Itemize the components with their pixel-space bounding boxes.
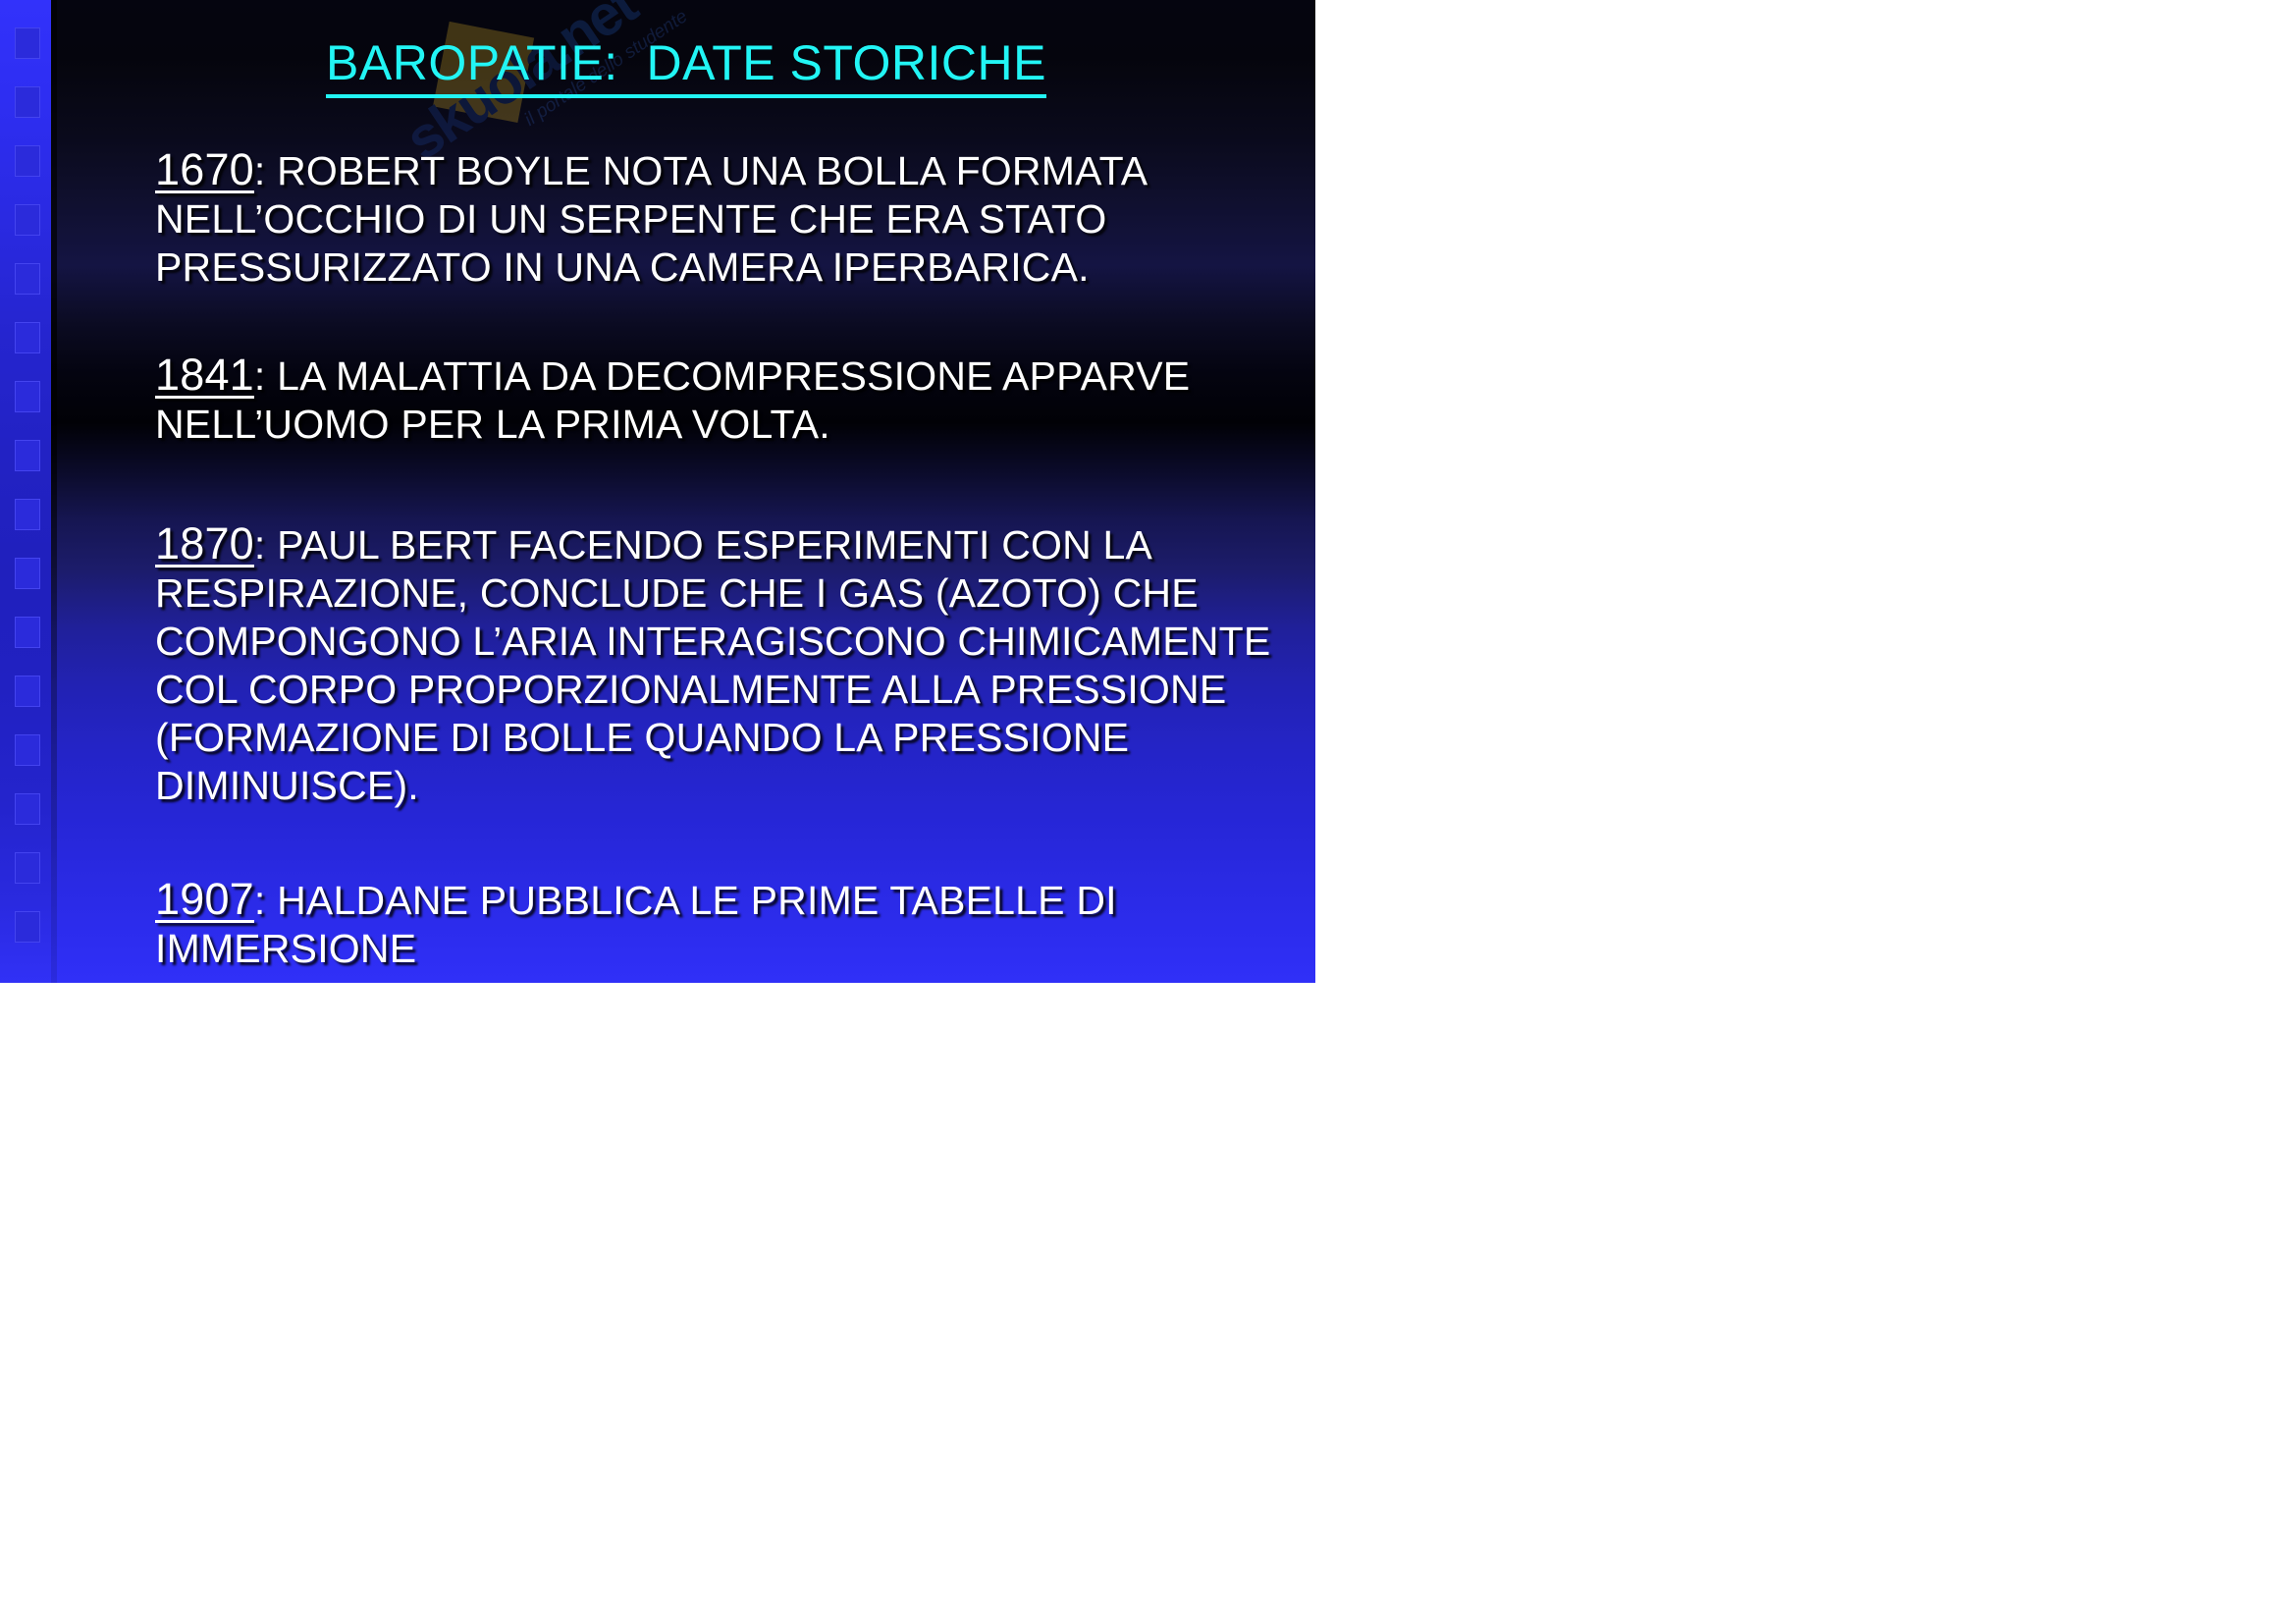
slide-square-strip-decoration [15,0,40,983]
slide-title: BAROPATIE: DATE STORICHE [57,37,1315,89]
timeline-entry-1670: 1670: ROBERT BOYLE NOTA UNA BOLLA FORMAT… [155,145,1308,292]
strip-square [15,86,40,118]
timeline-entry-1907: 1907: HALDANE PUBBLICA LE PRIME TABELLE … [155,875,1308,973]
strip-square [15,617,40,648]
strip-square [15,793,40,825]
strip-square [15,734,40,766]
strip-square [15,558,40,589]
timeline-entry-1841: 1841: LA MALATTIA DA DECOMPRESSIONE APPA… [155,351,1308,449]
strip-square [15,263,40,295]
strip-square [15,852,40,884]
entry-year-1907: 1907 [155,874,254,924]
entry-separator: : [254,353,277,399]
strip-square [15,499,40,530]
entry-text-1907: HALDANE PUBBLICA LE PRIME TABELLE DI IMM… [155,878,1128,971]
strip-square [15,440,40,471]
strip-square [15,204,40,236]
entry-separator: : [254,878,277,923]
entry-text-1841: LA MALATTIA DA DECOMPRESSIONE APPARVE NE… [155,353,1201,447]
slide-body: 1670: ROBERT BOYLE NOTA UNA BOLLA FORMAT… [155,145,1308,973]
entry-separator: : [254,522,277,568]
slide-title-text: BAROPATIE: DATE STORICHE [326,35,1046,98]
entry-year-1670: 1670 [155,144,254,194]
entry-year-1841: 1841 [155,350,254,400]
entry-text-1670: ROBERT BOYLE NOTA UNA BOLLA FORMATA NELL… [155,148,1157,290]
entry-separator: : [254,148,277,193]
strip-square [15,322,40,353]
entry-text-1870: PAUL BERT FACENDO ESPERIMENTI CON LA RES… [155,522,1282,808]
strip-square [15,676,40,707]
strip-square [15,381,40,412]
slide-band-edge-shadow [51,0,57,983]
presentation-slide: skuola.net il portale dello studente BAR… [0,0,1315,983]
strip-square [15,145,40,177]
entry-year-1870: 1870 [155,518,254,568]
timeline-entry-1870: 1870: PAUL BERT FACENDO ESPERIMENTI CON … [155,519,1308,810]
strip-square [15,27,40,59]
strip-square [15,911,40,943]
